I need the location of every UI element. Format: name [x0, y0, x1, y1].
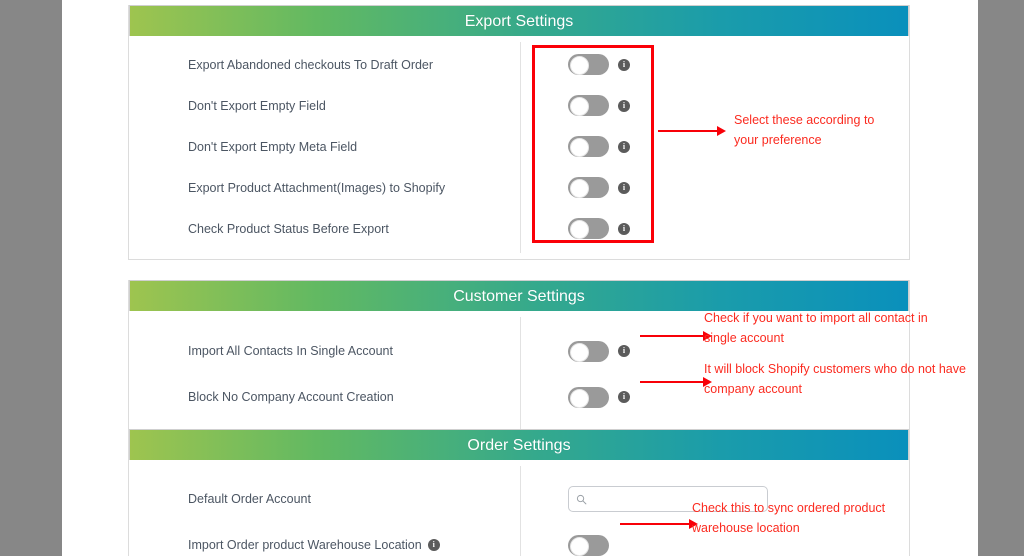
table-row: Check Product Status Before Export i [129, 208, 909, 249]
info-icon[interactable]: i [428, 539, 440, 551]
info-icon[interactable]: i [618, 100, 630, 112]
setting-label: Don't Export Empty Field [188, 99, 326, 113]
toggle-export-abandoned-checkouts[interactable] [568, 54, 609, 75]
info-icon[interactable]: i [618, 182, 630, 194]
info-icon[interactable]: i [618, 223, 630, 235]
row-label: Export Abandoned checkouts To Draft Orde… [129, 58, 520, 72]
annotation-customer-note-2: It will block Shopify customers who do n… [704, 359, 978, 399]
toggle-dont-export-empty-meta-field[interactable] [568, 136, 609, 157]
row-label: Default Order Account [129, 492, 520, 506]
row-label: Import All Contacts In Single Account [129, 344, 520, 358]
annotation-arrow-order [620, 519, 698, 529]
info-icon[interactable]: i [618, 345, 630, 357]
left-gray-rail [0, 0, 62, 556]
setting-label: Export Abandoned checkouts To Draft Orde… [188, 58, 433, 72]
search-icon [576, 494, 587, 505]
annotation-arrow-customer-2 [640, 377, 712, 387]
table-row: Export Abandoned checkouts To Draft Orde… [129, 44, 909, 85]
info-icon[interactable]: i [618, 391, 630, 403]
right-gray-rail [978, 0, 1024, 556]
row-label: Check Product Status Before Export [129, 222, 520, 236]
setting-label: Export Product Attachment(Images) to Sho… [188, 181, 445, 195]
row-label: Export Product Attachment(Images) to Sho… [129, 181, 520, 195]
setting-label: Import All Contacts In Single Account [188, 344, 393, 358]
annotation-customer-note-1: Check if you want to import all contact … [704, 308, 964, 348]
row-control: i [520, 177, 909, 198]
export-settings-title: Export Settings [129, 5, 909, 36]
annotation-order-note: Check this to sync ordered product wareh… [692, 498, 932, 538]
setting-label: Import Order product Warehouse Location [188, 538, 422, 552]
annotation-export-note: Select these according to your preferenc… [734, 110, 934, 150]
settings-page: Export Settings Export Abandoned checkou… [62, 0, 978, 556]
toggle-import-all-contacts-single-account[interactable] [568, 341, 609, 362]
setting-label: Block No Company Account Creation [188, 390, 394, 404]
info-icon[interactable]: i [618, 141, 630, 153]
table-row: Export Product Attachment(Images) to Sho… [129, 167, 909, 208]
setting-label: Don't Export Empty Meta Field [188, 140, 357, 154]
toggle-check-product-status-before-export[interactable] [568, 218, 609, 239]
row-control: i [520, 218, 909, 239]
toggle-import-order-product-warehouse-location[interactable] [568, 535, 609, 556]
customer-settings-title: Customer Settings [129, 280, 909, 311]
toggle-export-product-attachment[interactable] [568, 177, 609, 198]
toggle-dont-export-empty-field[interactable] [568, 95, 609, 116]
setting-label: Default Order Account [188, 492, 311, 506]
row-label: Block No Company Account Creation [129, 390, 520, 404]
row-label: Don't Export Empty Meta Field [129, 140, 520, 154]
row-control: i [520, 54, 909, 75]
row-label: Don't Export Empty Field [129, 99, 520, 113]
toggle-block-no-company-account-creation[interactable] [568, 387, 609, 408]
row-label: Import Order product Warehouse Location … [129, 538, 520, 552]
order-settings-title: Order Settings [129, 429, 909, 460]
info-icon[interactable]: i [618, 59, 630, 71]
annotation-arrow-export [658, 126, 726, 136]
setting-label: Check Product Status Before Export [188, 222, 389, 236]
annotation-arrow-customer-1 [640, 331, 712, 341]
